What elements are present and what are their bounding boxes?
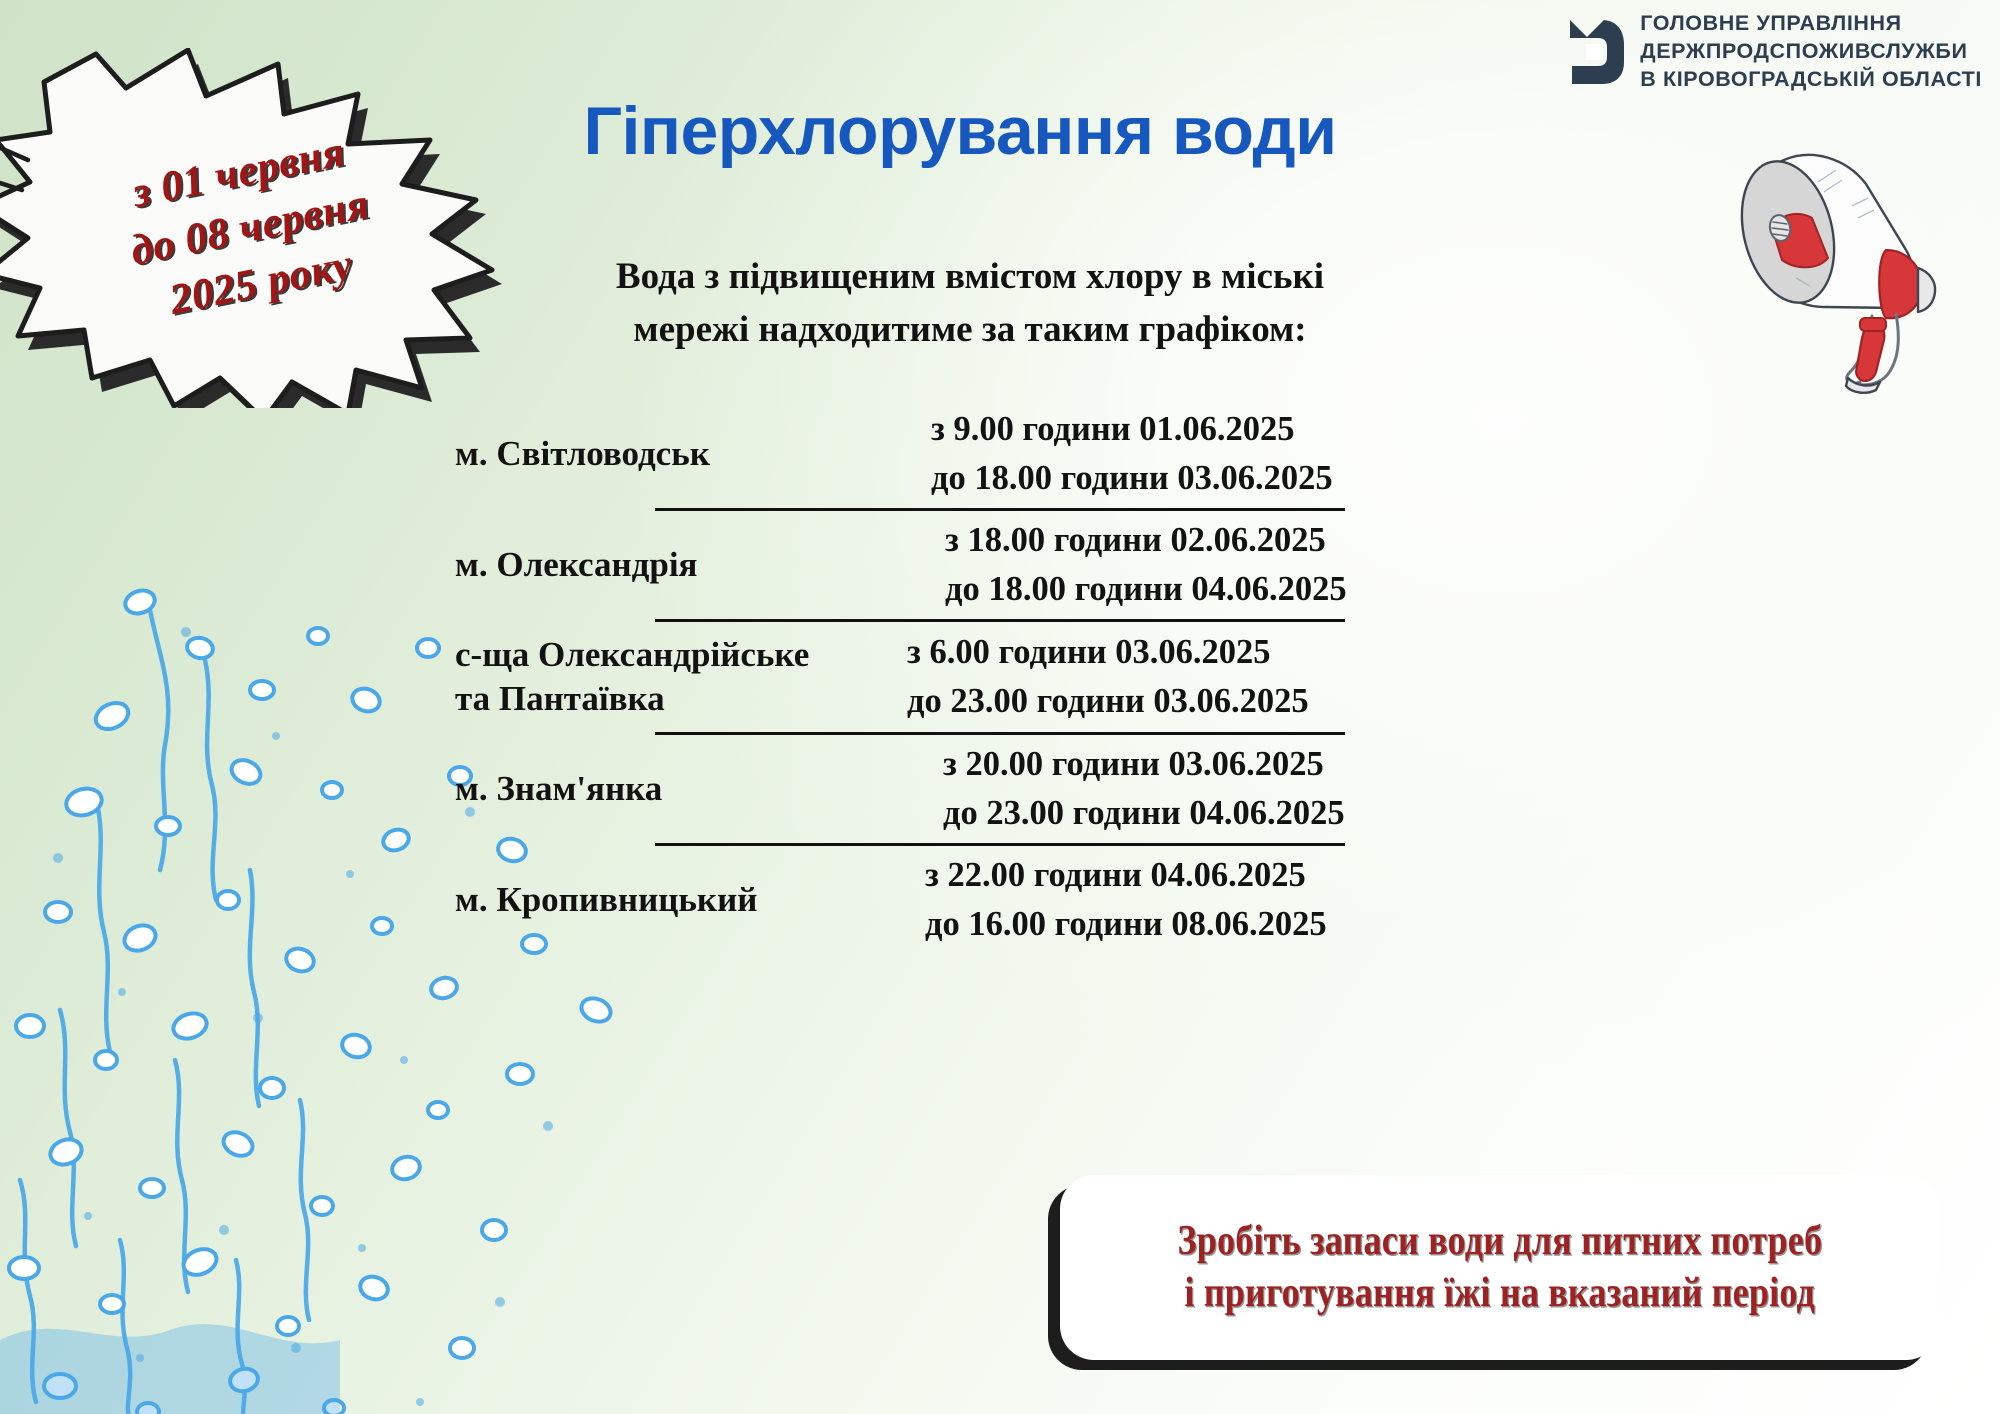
schedule-city: м. Знам'янка <box>455 767 903 811</box>
schedule-to: до 23.00 години 03.06.2025 <box>907 677 1535 726</box>
schedule-to: до 16.00 години 08.06.2025 <box>925 900 1535 949</box>
schedule-row: м. Знам'янка з 20.00 години 03.06.2025 д… <box>455 735 1535 843</box>
schedule-dates: з 18.00 години 02.06.2025 до 18.00 годин… <box>903 516 1535 614</box>
page-title: Гіперхлорування води <box>520 96 1400 167</box>
callout-line-1: Зробіть запаси води для питних потреб <box>1178 1216 1823 1267</box>
callout-box: Зробіть запаси води для питних потреб і … <box>1060 1175 1940 1360</box>
logo-line-3: В КІРОВОГРАДСЬКІЙ ОБЛАСТІ <box>1640 66 1982 94</box>
poster-canvas: з 01 червня до 08 червня 2025 року ГОЛОВ… <box>0 0 2000 1414</box>
schedule-from: з 18.00 години 02.06.2025 <box>945 516 1535 565</box>
water-storage-callout: Зробіть запаси води для питних потреб і … <box>1060 1175 1940 1360</box>
schedule-dates: з 22.00 години 04.06.2025 до 16.00 годин… <box>903 851 1535 949</box>
schedule-to: до 18.00 години 04.06.2025 <box>945 565 1535 614</box>
schedule-to: до 18.00 години 03.06.2025 <box>931 454 1535 503</box>
organization-logo: ГОЛОВНЕ УПРАВЛІННЯ ДЕРЖПРОДСПОЖИВСЛУЖБИ … <box>1564 10 1982 94</box>
schedule-dates: з 6.00 години 03.06.2025 до 23.00 години… <box>903 628 1535 726</box>
schedule-row: м. Кропивницький з 22.00 години 04.06.20… <box>455 846 1535 954</box>
schedule-city: м. Світловодськ <box>455 432 903 476</box>
page-subtitle: Вода з підвищеним вмістом хлору в міські… <box>560 250 1380 357</box>
schedule-row: м. Світловодськ з 9.00 години 01.06.2025… <box>455 400 1535 508</box>
schedule-city: м. Олександрія <box>455 543 903 587</box>
schedule-city-line-1: с-ща Олександрійське <box>455 633 895 677</box>
subtitle-line-2: мережі надходитиме за таким графіком: <box>560 303 1380 356</box>
schedule-dates: з 20.00 години 03.06.2025 до 23.00 годин… <box>903 740 1535 838</box>
logo-line-1: ГОЛОВНЕ УПРАВЛІННЯ <box>1640 10 1982 38</box>
callout-line-2: і приготування їжі на вказаний період <box>1185 1268 1816 1319</box>
schedule-city-line-2: та Пантаївка <box>455 677 895 721</box>
schedule-row: с-ща Олександрійське та Пантаївка з 6.00… <box>455 622 1535 732</box>
zd-logo-icon <box>1564 18 1626 86</box>
subtitle-line-1: Вода з підвищеним вмістом хлору в міські <box>560 250 1380 303</box>
logo-text-block: ГОЛОВНЕ УПРАВЛІННЯ ДЕРЖПРОДСПОЖИВСЛУЖБИ … <box>1640 10 1982 94</box>
megaphone-icon <box>1700 110 2000 395</box>
schedule-city: с-ща Олександрійське та Пантаївка <box>455 633 903 721</box>
schedule-from: з 22.00 години 04.06.2025 <box>925 851 1535 900</box>
schedule-dates: з 9.00 години 01.06.2025 до 18.00 години… <box>903 405 1535 503</box>
schedule-from: з 6.00 години 03.06.2025 <box>907 628 1535 677</box>
schedule-from: з 20.00 години 03.06.2025 <box>943 740 1535 789</box>
schedule-to: до 23.00 години 04.06.2025 <box>943 789 1535 838</box>
date-range-badge: з 01 червня до 08 червня 2025 року <box>0 48 512 408</box>
schedule-from: з 9.00 години 01.06.2025 <box>931 405 1535 454</box>
schedule-city: м. Кропивницький <box>455 878 903 922</box>
schedule-row: м. Олександрія з 18.00 години 02.06.2025… <box>455 511 1535 619</box>
logo-line-2: ДЕРЖПРОДСПОЖИВСЛУЖБИ <box>1640 38 1982 66</box>
chlorination-schedule: м. Світловодськ з 9.00 години 01.06.2025… <box>455 400 1535 954</box>
